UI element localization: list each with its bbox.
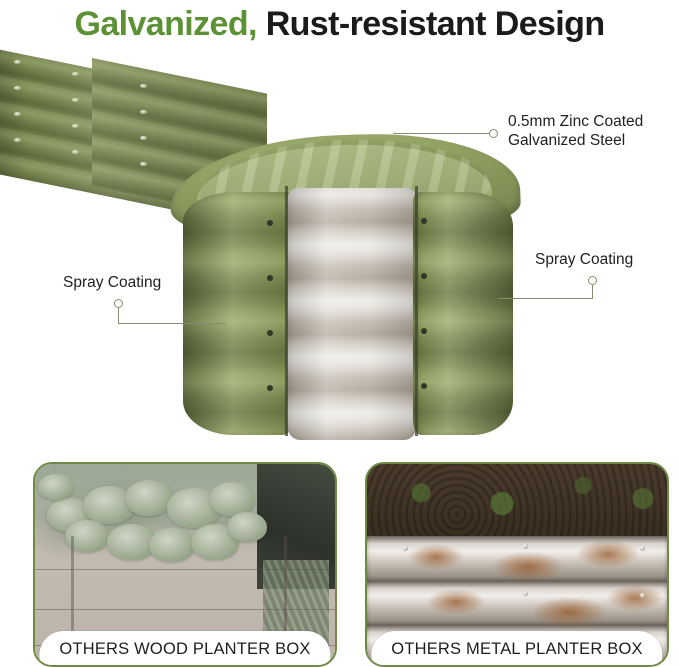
- rivet-icon: [14, 112, 21, 116]
- callout-leader-spray-left-horizontal: [118, 323, 226, 324]
- panel-seam: [285, 186, 288, 436]
- rivet-icon: [14, 60, 21, 64]
- comparison-caption-wood: OTHERS WOOD PLANTER BOX: [39, 631, 330, 667]
- rivet-icon: [140, 136, 147, 140]
- comparison-card-wood: OTHERS WOOD PLANTER BOX: [33, 462, 337, 667]
- rivet-icon: [14, 138, 21, 142]
- rivet-icon: [421, 273, 427, 279]
- rivet-icon: [140, 84, 147, 88]
- planter-body-green-left: [183, 192, 293, 435]
- callout-dot-spray-left: [114, 299, 123, 308]
- plank-line: [35, 609, 335, 611]
- product-illustration: [0, 40, 679, 450]
- callout-dot-zinc: [489, 129, 498, 138]
- rust-stain: [532, 597, 606, 627]
- rivet-icon: [267, 220, 273, 226]
- callout-leader-zinc: [393, 133, 490, 134]
- rivet-icon: [72, 98, 79, 102]
- rivet-icon: [140, 162, 147, 166]
- rivet-icon: [72, 124, 79, 128]
- rivet-icon: [140, 110, 147, 114]
- leaf-shape: [209, 482, 255, 516]
- plank-line: [35, 569, 335, 571]
- callout-label-zinc: 0.5mm Zinc Coated Galvanized Steel: [508, 112, 643, 150]
- photo-soil: [367, 464, 667, 536]
- rust-stain: [607, 585, 663, 611]
- comparison-caption-metal: OTHERS METAL PLANTER BOX: [371, 631, 662, 667]
- rivet-icon: [421, 218, 427, 224]
- rivet-icon: [267, 275, 273, 281]
- planter-body: [183, 180, 513, 435]
- callout-leader-spray-right-horizontal: [498, 298, 593, 299]
- rivet-icon: [267, 330, 273, 336]
- callout-dot-spray-right: [588, 276, 597, 285]
- rivet-icon: [72, 72, 79, 76]
- callout-label-spray-right: Spray Coating: [535, 250, 633, 269]
- callout-leader-spray-right-vertical: [592, 285, 593, 299]
- rivet-icon: [14, 86, 21, 90]
- page-title-rest: Rust-resistant Design: [257, 5, 605, 43]
- rust-stain: [427, 589, 485, 615]
- callout-label-zinc-line2: Galvanized Steel: [508, 131, 643, 150]
- leaf-shape: [38, 474, 74, 500]
- leaf-shape: [125, 480, 173, 516]
- rivet-icon: [267, 385, 273, 391]
- callout-label-spray-left: Spray Coating: [63, 273, 161, 292]
- leaf-shape: [227, 512, 267, 542]
- callout-label-zinc-line1: 0.5mm Zinc Coated: [508, 112, 643, 131]
- callout-leader-spray-left-vertical: [118, 308, 119, 324]
- rivet-icon: [72, 150, 79, 154]
- page-title-highlight: Galvanized,: [74, 5, 256, 43]
- rivet-icon: [421, 383, 427, 389]
- screw-icon: [523, 591, 528, 596]
- planter-body-galvanized-panel: [287, 188, 417, 440]
- rivet-icon: [421, 328, 427, 334]
- screw-icon: [640, 593, 645, 598]
- panel-seam: [415, 186, 418, 436]
- planter-body-green-right: [413, 192, 513, 435]
- leaf-shape: [149, 528, 195, 562]
- comparison-card-metal: OTHERS METAL PLANTER BOX: [365, 462, 669, 667]
